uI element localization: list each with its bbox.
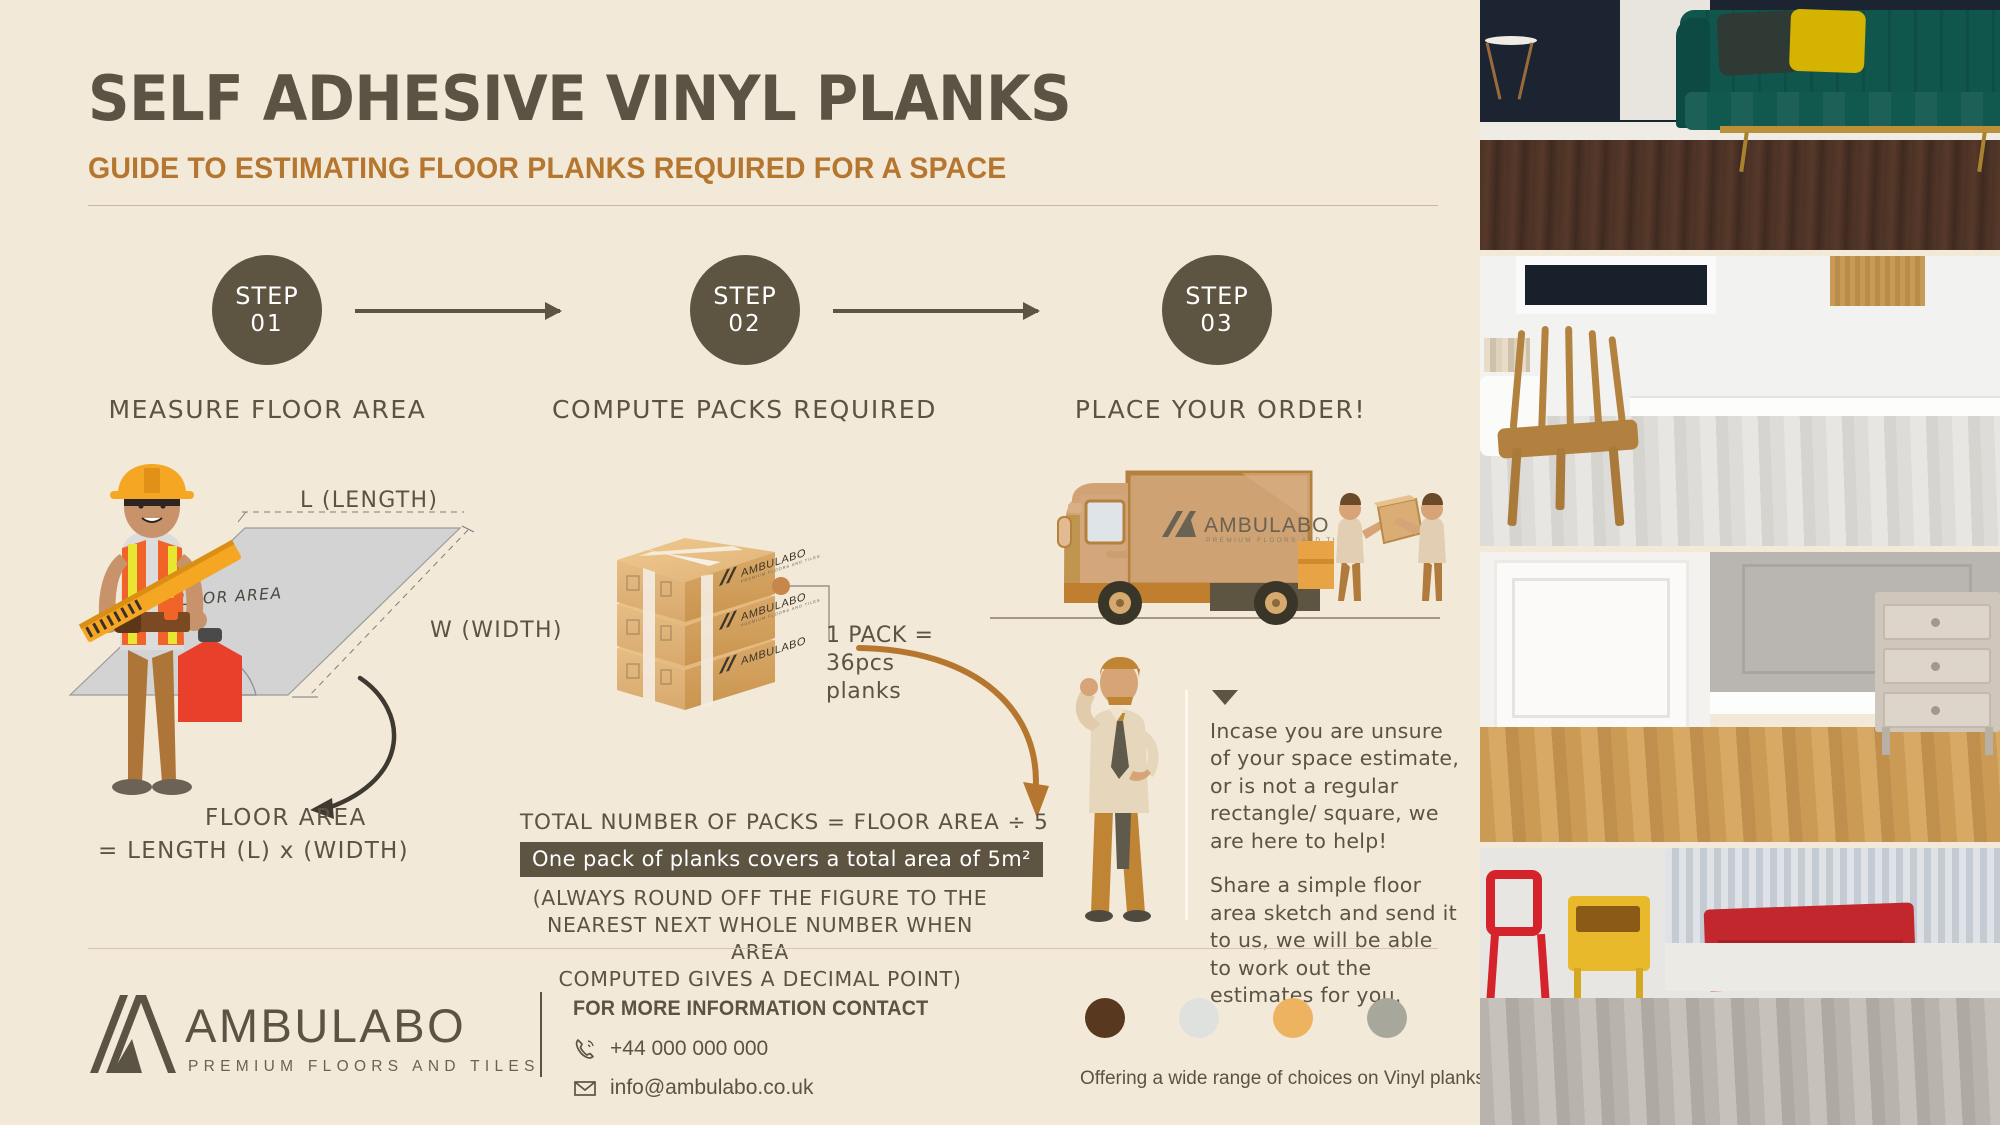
photo3-knob-1 bbox=[1931, 618, 1940, 627]
phone-icon bbox=[573, 1037, 597, 1061]
page-title: SELF ADHESIVE VINYL PLANKS bbox=[88, 62, 1071, 135]
envelope-icon bbox=[573, 1076, 597, 1100]
step-3-word: STEP bbox=[1185, 283, 1249, 311]
footer-brand-tagline: PREMIUM FLOORS AND TILES bbox=[188, 1058, 540, 1076]
step-1-word: STEP bbox=[235, 283, 299, 311]
photo2-spindle-2 bbox=[1538, 326, 1549, 430]
photo2-skirting bbox=[1630, 396, 2000, 418]
footer-divider bbox=[88, 948, 1438, 949]
footer: AMBULABO PREMIUM FLOORS AND TILES FOR MO… bbox=[0, 980, 1480, 1125]
page-subtitle: GUIDE TO ESTIMATING FLOOR PLANKS REQUIRE… bbox=[88, 152, 1006, 186]
photo4-floor bbox=[1480, 998, 2000, 1125]
pack-boxes-illustration: AMBULABO PREMIUM FLOORS AND TILES AMBULA… bbox=[615, 520, 845, 710]
contact-email-value: info@ambulabo.co.uk bbox=[610, 1076, 813, 1100]
floor-area-formula: = LENGTH (L) x (WIDTH) bbox=[98, 838, 409, 864]
contact-divider bbox=[540, 992, 542, 1077]
photo4-nightstand-leg-2 bbox=[1636, 968, 1643, 998]
photo3-dresser bbox=[1875, 592, 2000, 732]
step-circle-1: STEP 01 bbox=[212, 255, 322, 365]
photo2-wood-accent bbox=[1830, 256, 1925, 306]
packs-formula-block: TOTAL NUMBER OF PACKS = FLOOR AREA ÷ 5 O… bbox=[520, 810, 1000, 993]
photo1-pillow-yellow bbox=[1789, 9, 1866, 74]
svg-text:AMBULABO: AMBULABO bbox=[1204, 514, 1330, 537]
photo4-chair-back bbox=[1486, 870, 1542, 936]
delivery-truck-illustration: AMBULABO PREMIUM FLOORS AND TILES bbox=[980, 455, 1450, 635]
color-swatch-row bbox=[1085, 998, 1407, 1038]
swatch-tagline: Offering a wide range of choices on Viny… bbox=[1080, 1068, 1485, 1090]
ambulabo-logo-icon bbox=[90, 995, 176, 1073]
photo2-spindle-5 bbox=[1608, 336, 1626, 430]
rounding-note-line-2: NEAREST NEXT WHOLE NUMBER WHEN AREA bbox=[520, 912, 1000, 966]
infographic-page: SELF ADHESIVE VINYL PLANKS GUIDE TO ESTI… bbox=[0, 0, 2000, 1125]
photo3-floor bbox=[1480, 727, 2000, 842]
photo3-knob-2 bbox=[1931, 662, 1940, 671]
photo2-chair-back bbox=[1510, 326, 1628, 430]
photo2-chair-leg-3 bbox=[1555, 448, 1565, 510]
step-label-3: PLACE YOUR ORDER! bbox=[1028, 395, 1413, 424]
step-circle-3: STEP 03 bbox=[1162, 255, 1272, 365]
photo1-pillow-dark bbox=[1716, 10, 1799, 76]
photo1-sofa-seat bbox=[1685, 92, 2000, 130]
contact-email-row[interactable]: info@ambulabo.co.uk bbox=[573, 1076, 813, 1100]
photo-strip bbox=[1480, 0, 2000, 1125]
step-label-1: MEASURE FLOOR AREA bbox=[75, 395, 460, 424]
photo4-nightstand-leg-1 bbox=[1574, 968, 1581, 998]
caret-down-icon bbox=[1212, 690, 1238, 705]
photo4-red-chair bbox=[1480, 870, 1560, 998]
content-column: SELF ADHESIVE VINYL PLANKS GUIDE TO ESTI… bbox=[0, 0, 1480, 1125]
photo2-window bbox=[1516, 256, 1716, 314]
swatch-white-wash[interactable] bbox=[1179, 998, 1219, 1038]
help-text-block: Incase you are unsure of your space esti… bbox=[1210, 718, 1460, 1010]
header-divider bbox=[88, 205, 1438, 206]
photo-white-wash-dining-room bbox=[1480, 256, 2000, 546]
contact-phone-value: +44 000 000 000 bbox=[610, 1037, 768, 1061]
photo3-door-panel bbox=[1512, 578, 1670, 718]
help-divider bbox=[1185, 690, 1188, 920]
photo-grey-stone-bedroom bbox=[1480, 848, 2000, 1125]
rounding-note: (ALWAYS ROUND OFF THE FIGURE TO THE NEAR… bbox=[520, 885, 1000, 993]
confused-person-illustration bbox=[1055, 655, 1185, 925]
step-1-number: 01 bbox=[250, 311, 283, 337]
photo-dark-walnut-living-room bbox=[1480, 0, 2000, 250]
photo3-dresser-leg-1 bbox=[1882, 727, 1890, 755]
footer-brand-name: AMBULABO bbox=[185, 998, 466, 1053]
photo1-floor bbox=[1480, 140, 2000, 250]
contact-phone-row[interactable]: +44 000 000 000 bbox=[573, 1037, 768, 1061]
contact-heading: FOR MORE INFORMATION CONTACT bbox=[573, 997, 928, 1021]
photo-honey-oak-hallway bbox=[1480, 552, 2000, 842]
swatch-grey-stone[interactable] bbox=[1367, 998, 1407, 1038]
help-paragraph-1: Incase you are unsure of your space esti… bbox=[1210, 718, 1460, 855]
photo2-spindle-4 bbox=[1589, 330, 1603, 430]
step-label-2: COMPUTE PACKS REQUIRED bbox=[552, 395, 937, 424]
photo1-sofa-gold-trim bbox=[1720, 126, 2000, 133]
photo2-spindle-1 bbox=[1510, 330, 1526, 430]
swatch-honey-oak[interactable] bbox=[1273, 998, 1313, 1038]
step-circle-2: STEP 02 bbox=[690, 255, 800, 365]
photo2-spindle-3 bbox=[1565, 326, 1574, 430]
width-label: W (WIDTH) bbox=[430, 618, 563, 643]
pack-coverage-highlight: One pack of planks covers a total area o… bbox=[520, 842, 1043, 877]
step-3-number: 03 bbox=[1200, 311, 1233, 337]
step-arrow-1-2 bbox=[355, 309, 560, 313]
rounding-note-line-1: (ALWAYS ROUND OFF THE FIGURE TO THE bbox=[520, 885, 1000, 912]
photo3-dresser-leg-2 bbox=[1985, 727, 1993, 755]
swatch-dark-walnut[interactable] bbox=[1085, 998, 1125, 1038]
step-2-word: STEP bbox=[713, 283, 777, 311]
photo3-knob-3 bbox=[1931, 706, 1940, 715]
length-label: L (LENGTH) bbox=[300, 488, 438, 513]
floor-area-result-label: FLOOR AREA bbox=[205, 805, 367, 831]
step-arrow-2-3 bbox=[833, 309, 1038, 313]
photo4-nightstand-drawer bbox=[1576, 906, 1640, 932]
packs-formula-line: TOTAL NUMBER OF PACKS = FLOOR AREA ÷ 5 bbox=[520, 810, 1000, 835]
photo4-mattress bbox=[1665, 943, 2000, 991]
steps-row: STEP 01 STEP 02 STEP 03 MEASURE FLOOR AR… bbox=[0, 255, 1440, 435]
step-2-number: 02 bbox=[728, 311, 761, 337]
